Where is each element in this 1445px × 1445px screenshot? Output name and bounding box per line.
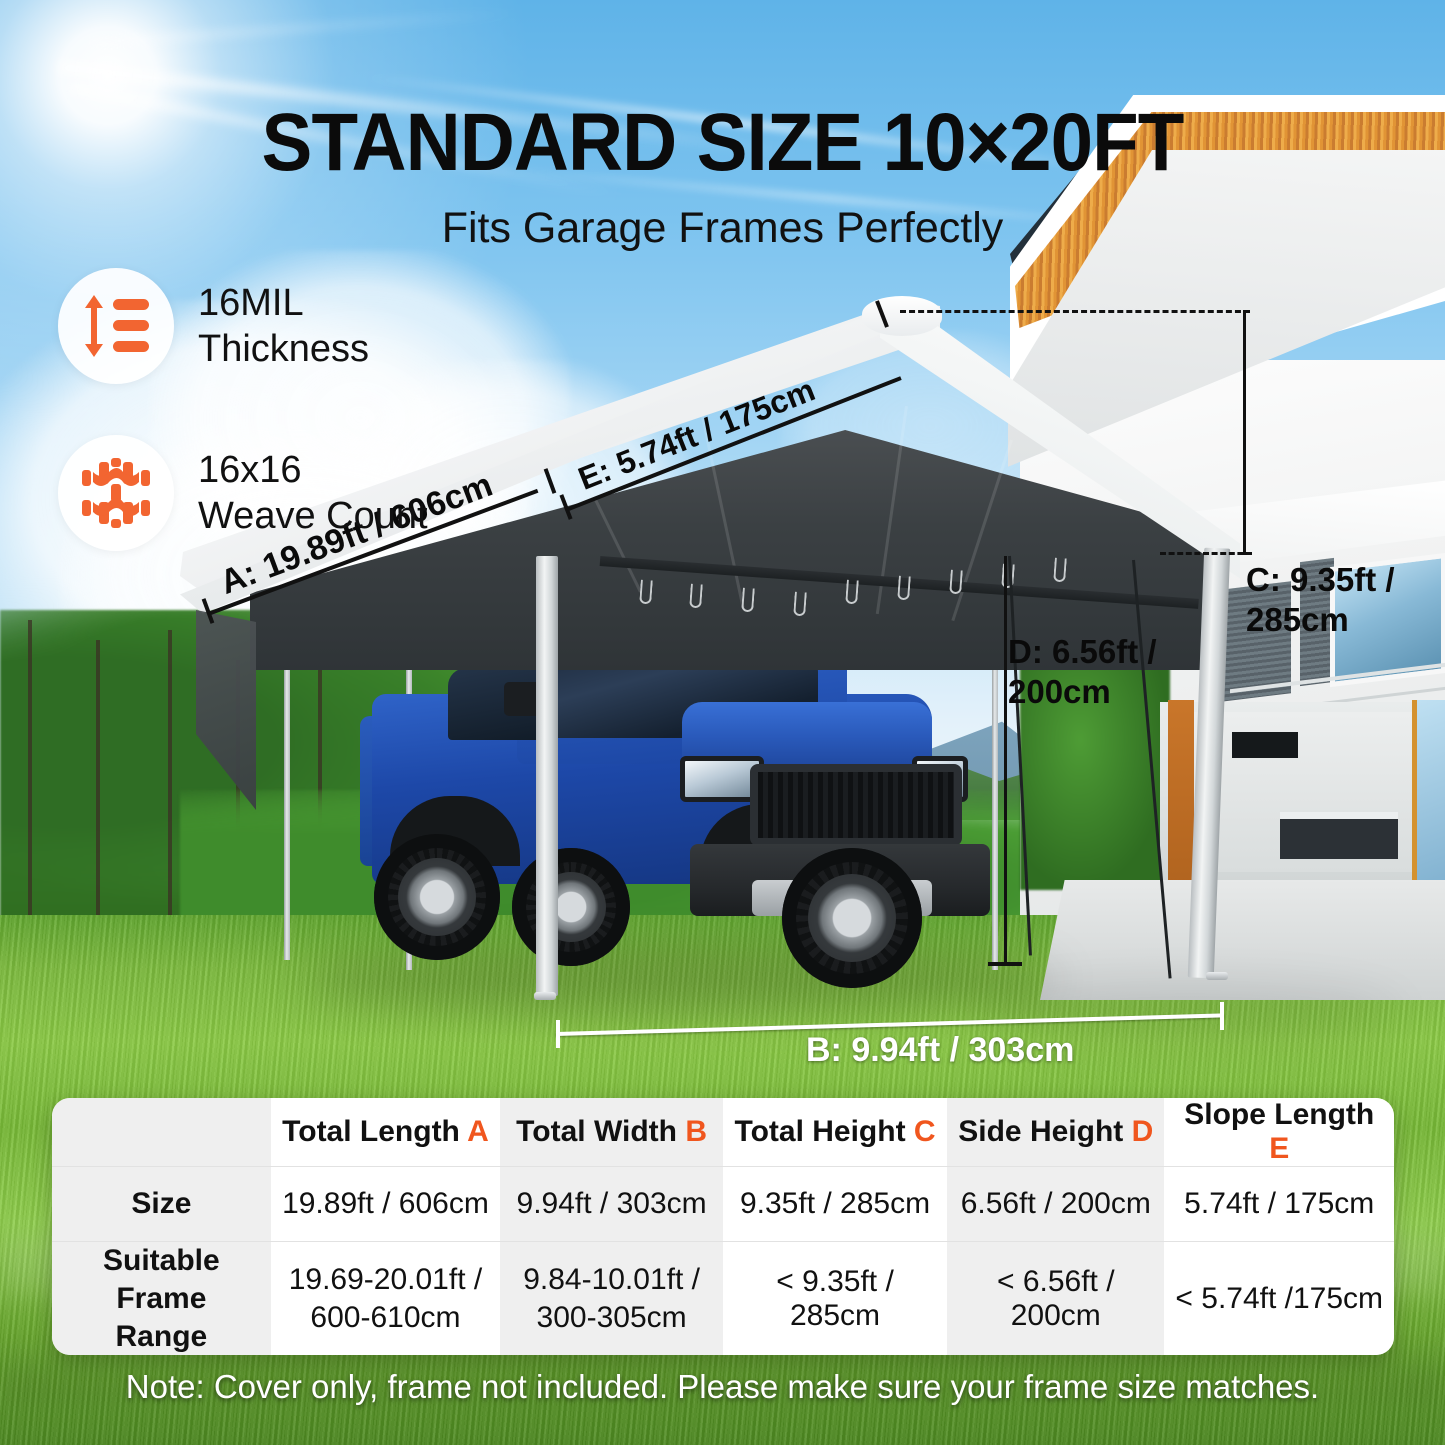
page-subtitle: Fits Garage Frames Perfectly <box>0 204 1445 253</box>
feature-thickness-line2: Thickness <box>198 328 369 370</box>
header-letter: B <box>685 1115 707 1148</box>
feature-weave-line1: 16x16 <box>198 449 302 491</box>
header-letter: C <box>914 1115 936 1148</box>
weave-icon <box>79 456 153 530</box>
tree-trunk <box>28 620 32 920</box>
cell-size-d: 6.56ft / 200cm <box>947 1167 1164 1242</box>
cell-range-c: < 9.35ft / 285cm <box>723 1242 947 1356</box>
cell-size-e: 5.74ft / 175cm <box>1164 1167 1394 1242</box>
feature-thickness-text: 16MIL Thickness <box>198 280 369 373</box>
cell-range-b: 9.84-10.01ft /300-305cm <box>500 1242 723 1356</box>
cell-size-a: 19.89ft / 606cm <box>271 1167 500 1242</box>
table-header-total-length: Total Length A <box>271 1098 500 1167</box>
header-letter: E <box>1269 1132 1289 1165</box>
footer-note: Note: Cover only, frame not included. Pl… <box>0 1368 1445 1406</box>
television <box>1232 732 1298 758</box>
tree-trunk <box>96 640 100 920</box>
carport-foot <box>1206 972 1228 980</box>
feature-thickness-line1: 16MIL <box>198 282 304 324</box>
cell-line2: 300-305cm <box>506 1299 717 1337</box>
product-infographic: A: 19.89ft / 606cm E: 5.74ft / 175cm C: … <box>0 0 1445 1445</box>
feature-icon-circle <box>58 435 174 551</box>
concrete-patio <box>1040 880 1445 1000</box>
carport-leg <box>284 630 290 960</box>
feature-weave: 16x16 Weave Count <box>58 435 428 551</box>
feature-thickness: 16MIL Thickness <box>58 268 369 384</box>
dimension-label-c-line2: 285cm <box>1246 601 1349 638</box>
dimension-label-c: C: 9.35ft /285cm <box>1246 560 1395 641</box>
dimension-label-c-line1: C: 9.35ft / <box>1246 561 1395 598</box>
sofa <box>1280 812 1398 859</box>
dimension-label-d: D: 6.56ft /200cm <box>1008 632 1157 713</box>
row-label-line2: Range <box>58 1318 265 1356</box>
cell-line1: 19.69-20.01ft / <box>277 1261 494 1299</box>
table-row: Size 19.89ft / 606cm 9.94ft / 303cm 9.35… <box>52 1167 1394 1242</box>
cell-size-b: 9.94ft / 303cm <box>500 1167 723 1242</box>
header-text: Slope Length <box>1184 1098 1374 1131</box>
feature-icon-circle <box>58 268 174 384</box>
truck-grille <box>750 764 962 846</box>
table-header-slope-length: Slope Length E <box>1164 1098 1394 1167</box>
row-label-suitable-frame-range: Suitable FrameRange <box>52 1242 271 1356</box>
canopy-hook <box>949 570 963 595</box>
canopy-hook <box>741 588 755 613</box>
row-label-size: Size <box>52 1167 271 1242</box>
thickness-icon <box>81 293 151 359</box>
header-letter: D <box>1132 1115 1154 1148</box>
carport-foot <box>534 992 556 1000</box>
spec-table-panel: Total Length A Total Width B Total Heigh… <box>52 1098 1394 1355</box>
feature-weave-line2: Weave Count <box>198 495 428 537</box>
table-header-row: Total Length A Total Width B Total Heigh… <box>52 1098 1394 1167</box>
dimension-tick-b <box>1220 1002 1224 1030</box>
table-header-total-width: Total Width B <box>500 1098 723 1167</box>
dimension-tick-b <box>556 1020 560 1048</box>
dimension-label-b: B: 9.94ft / 303cm <box>806 1031 1074 1070</box>
dimension-line-d <box>1004 556 1007 966</box>
truck-rim <box>808 874 896 962</box>
carport-front-leg <box>536 556 558 996</box>
canopy-hook <box>897 576 911 601</box>
dimension-line-c <box>1243 310 1246 555</box>
dimension-label-d-line2: 200cm <box>1008 673 1111 710</box>
dimension-tick-d <box>988 962 1022 966</box>
canopy-hook <box>689 584 703 609</box>
header-text: Total Length <box>282 1115 467 1148</box>
cell-line2: 600-610cm <box>277 1299 494 1337</box>
row-label-line1: Suitable Frame <box>58 1242 265 1318</box>
table-header-total-height: Total Height C <box>723 1098 947 1167</box>
canopy-hook <box>639 580 653 605</box>
canopy-hook <box>845 580 859 605</box>
header-text: Total Width <box>516 1115 685 1148</box>
table-header-side-height: Side Height D <box>947 1098 1164 1167</box>
page-title: STANDARD SIZE 10×20FT <box>51 96 1395 190</box>
canopy-hook <box>1053 558 1067 583</box>
dimension-label-d-line1: D: 6.56ft / <box>1008 633 1157 670</box>
table-header-blank <box>52 1098 271 1167</box>
canopy-peak <box>862 296 942 336</box>
dimension-leader-c <box>1160 552 1252 555</box>
spec-table: Total Length A Total Width B Total Heigh… <box>52 1098 1394 1355</box>
header-text: Total Height <box>734 1115 913 1148</box>
glass-sliding-door <box>1412 700 1445 892</box>
canopy-hook <box>793 592 807 617</box>
table-row: Suitable FrameRange 19.69-20.01ft /600-6… <box>52 1242 1394 1356</box>
cell-size-c: 9.35ft / 285cm <box>723 1167 947 1242</box>
cell-range-a: 19.69-20.01ft /600-610cm <box>271 1242 500 1356</box>
truck-rim <box>398 858 476 936</box>
feature-weave-text: 16x16 Weave Count <box>198 447 428 540</box>
dimension-leader-c <box>900 310 1250 313</box>
wooden-door <box>1168 700 1194 886</box>
tree-trunk <box>168 630 172 920</box>
cell-range-e: < 5.74ft /175cm <box>1164 1242 1394 1356</box>
cell-range-d: < 6.56ft / 200cm <box>947 1242 1164 1356</box>
cell-line1: 9.84-10.01ft / <box>506 1261 717 1299</box>
header-letter: A <box>467 1115 489 1148</box>
header-text: Side Height <box>958 1115 1131 1148</box>
